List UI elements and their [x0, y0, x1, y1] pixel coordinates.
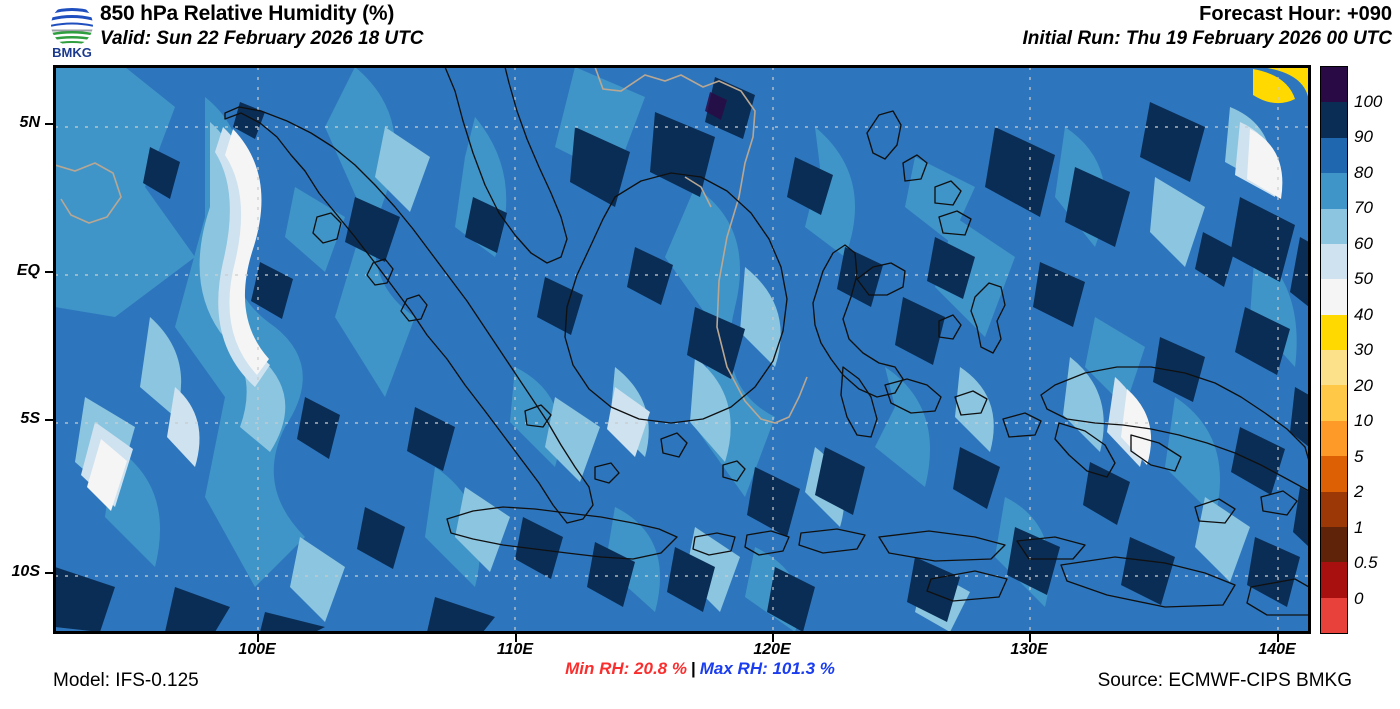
header-meta-block: Forecast Hour: +090 Initial Run: Thu 19 … [1022, 2, 1392, 51]
colorbar-band-1 [1321, 102, 1347, 137]
colorbar-tick-60: 60 [1354, 235, 1373, 252]
colorbar-tick-1: 1 [1354, 519, 1363, 536]
colorbar-labels: 1009080706050403020105210.50 [1354, 66, 1400, 634]
max-rh-value: Max RH: 101.3 % [700, 659, 835, 678]
colorbar-tick-100: 100 [1354, 93, 1382, 110]
colorbar-band-13 [1321, 527, 1347, 562]
colorbar-band-5 [1321, 244, 1347, 279]
forecast-hour-label: Forecast Hour: +090 [1022, 2, 1392, 26]
colorbar-band-4 [1321, 209, 1347, 244]
colorbar-tick-70: 70 [1354, 199, 1373, 216]
colorbar-tick-80: 80 [1354, 164, 1373, 181]
y-tick-mark [45, 123, 53, 125]
page-title: 850 hPa Relative Humidity (%) [100, 2, 800, 26]
colorbar-band-3 [1321, 173, 1347, 208]
colorbar-tick-30: 30 [1354, 341, 1373, 358]
min-rh-value: Min RH: 20.8 % [565, 659, 687, 678]
header-title-block: 850 hPa Relative Humidity (%) Valid: Sun… [100, 2, 800, 51]
colorbar-band-7 [1321, 315, 1347, 350]
colorbar-tick-90: 90 [1354, 128, 1373, 145]
colorbar[interactable] [1320, 66, 1348, 634]
x-axis-label-120e: 120E [737, 641, 807, 659]
colorbar-tick-50: 50 [1354, 270, 1373, 287]
colorbar-band-6 [1321, 279, 1347, 314]
colorbar-tick-20: 20 [1354, 377, 1373, 394]
min-max-separator: | [687, 659, 700, 678]
colorbar-tick-0: 0 [1354, 590, 1363, 607]
colorbar-band-12 [1321, 492, 1347, 527]
colorbar-tick-5: 5 [1354, 448, 1363, 465]
y-axis-label-eq: EQ [0, 262, 40, 280]
bmkg-logo-icon: BMKG [44, 2, 100, 60]
y-tick-mark [45, 271, 53, 273]
y-axis-label-5n: 5N [0, 114, 40, 132]
colorbar-band-9 [1321, 385, 1347, 420]
colorbar-band-15 [1321, 598, 1347, 633]
y-tick-mark [45, 572, 53, 574]
colorbar-band-11 [1321, 456, 1347, 491]
colorbar-tick-10: 10 [1354, 412, 1373, 429]
colorbar-band-10 [1321, 421, 1347, 456]
x-axis-label-110e: 110E [480, 641, 550, 659]
min-max-rh-row: Min RH: 20.8 %|Max RH: 101.3 % [0, 659, 1400, 679]
colorbar-tick-0.5: 0.5 [1354, 554, 1378, 571]
colorbar-tick-2: 2 [1354, 483, 1363, 500]
colorbar-band-14 [1321, 562, 1347, 597]
x-axis-label-130e: 130E [994, 641, 1064, 659]
forecast-map[interactable]: Copyright Sub Bidang Prediksi Cuaca BMKG… [53, 65, 1311, 634]
x-axis-label-140e: 140E [1242, 641, 1312, 659]
valid-time-label: Valid: Sun 22 February 2026 18 UTC [100, 27, 800, 51]
colorbar-band-0 [1321, 67, 1347, 102]
colorbar-band-8 [1321, 350, 1347, 385]
bmkg-logo-label: BMKG [52, 45, 92, 60]
colorbar-band-2 [1321, 138, 1347, 173]
y-axis-label-10s: 10S [0, 563, 40, 581]
x-axis-label-100e: 100E [222, 641, 292, 659]
initial-run-label: Initial Run: Thu 19 February 2026 00 UTC [1022, 27, 1392, 51]
y-tick-mark [45, 419, 53, 421]
colorbar-tick-40: 40 [1354, 306, 1373, 323]
y-axis-label-5s: 5S [0, 410, 40, 428]
humidity-contour-plot [55, 67, 1309, 632]
bmkg-logo: BMKG [44, 2, 100, 60]
